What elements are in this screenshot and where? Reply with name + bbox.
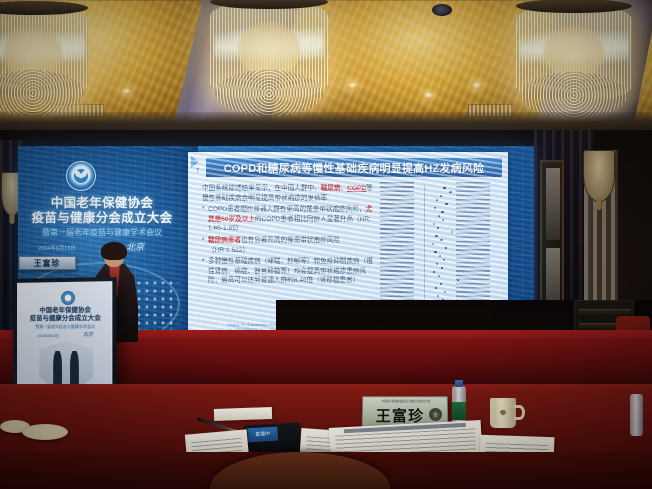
coffee-mug: 会标 bbox=[490, 398, 516, 428]
slide-title-bar: COPD和糖尿病等慢性基础疾病明显提高HZ发病风险 bbox=[206, 158, 502, 177]
podium-nameplate-text: 王富珍 bbox=[34, 257, 61, 268]
banner-date: 2024年6月15日 bbox=[38, 244, 76, 252]
lectern-panel-subtitle: 暨第一届老年疫苗与健康学术会议 bbox=[22, 324, 109, 330]
mug-logo: 会标 bbox=[496, 407, 510, 418]
slide-bullet-2-highlight: 糖尿病患者 bbox=[208, 237, 241, 244]
slide-intro-paragraph: 中国系统综述结果显示，在中国人群中，糖尿病、COPD等慢性基础疾病会明显提高带状… bbox=[202, 184, 374, 203]
table-nameplate-seal: 会 bbox=[429, 408, 442, 421]
downlight-1 bbox=[122, 88, 131, 94]
mug-handle bbox=[514, 405, 525, 420]
downlight-2 bbox=[348, 82, 357, 88]
forest-plot-point bbox=[438, 215, 440, 217]
slide-bullet-1-pre: COPD患者相比普通人群有更高的罹患带状疱疹风险， bbox=[208, 206, 366, 213]
forest-plot-study-labels bbox=[380, 182, 414, 314]
forest-plot-chart bbox=[380, 182, 490, 314]
forest-plot-point bbox=[434, 251, 436, 253]
slide-body-text: 中国系统综述结果显示，在中国人群中，糖尿病、COPD等慢性基础疾病会明显提高带状… bbox=[202, 184, 374, 288]
forest-plot-point bbox=[436, 199, 438, 201]
forest-plot-point bbox=[437, 295, 439, 297]
banner-title-line1: 中国老年保健协会 bbox=[24, 196, 180, 211]
slide-title: COPD和糖尿病等慢性基础疾病明显提高HZ发病风险 bbox=[224, 160, 484, 176]
forest-plot-point bbox=[433, 223, 435, 225]
forest-plot-value-labels bbox=[456, 182, 490, 314]
forest-plot-point bbox=[443, 187, 445, 189]
chandelier-right bbox=[516, 4, 632, 102]
water-bottle-right bbox=[630, 394, 643, 436]
banner-title-line2: 疫苗与健康分会成立大会 bbox=[24, 211, 180, 226]
downlight-3 bbox=[472, 82, 481, 88]
saucer-left bbox=[22, 424, 68, 440]
forest-plot-point bbox=[441, 267, 443, 269]
lectern-panel-title: 中国老年保健协会 疫苗与健康分会成立大会 bbox=[22, 307, 109, 324]
ceiling-speaker-right bbox=[432, 4, 452, 16]
forest-plot-point bbox=[435, 235, 437, 237]
slide-intro-highlight-2: COPD bbox=[347, 185, 366, 192]
forest-plot-point bbox=[449, 191, 451, 193]
forest-plot-reference-line bbox=[424, 185, 425, 313]
banner-title: 中国老年保健协会 疫苗与健康分会成立大会 bbox=[24, 196, 180, 226]
slide-bullet-1: COPD患者相比普通人群有更高的罹患带状疱疹风险，尤其是50岁及以上的COPD患… bbox=[202, 205, 374, 234]
slide-bullet-2: 糖尿病患者也有显著升高的罹患带状疱疹风险（HR:1.522） bbox=[202, 236, 374, 255]
slide-intro-highlight-1: 糖尿病、 bbox=[321, 185, 347, 192]
lectern-panel-date: 2024年6月15日 bbox=[37, 333, 59, 338]
forest-plot-point bbox=[435, 287, 437, 289]
forest-plot-point bbox=[445, 247, 447, 249]
lectern-panel-title-line2: 疫苗与健康分会成立大会 bbox=[22, 315, 109, 324]
slide-bullet-3-pre: 多种慢性基础疾病（哮喘、抑郁等）和免疫抑制疾病（慢性肾病、癌症、器官移植等）均会… bbox=[208, 258, 373, 284]
bottle-cap bbox=[455, 380, 463, 387]
podium-nameplate: 王富珍 bbox=[19, 256, 76, 270]
table-nameplate-header: 中国老年保健协会疫苗与健康分会成立大会 bbox=[367, 399, 445, 404]
forest-plot-point bbox=[440, 239, 442, 241]
lectern-panel-city: 北京 bbox=[83, 331, 93, 338]
curtain-valance bbox=[583, 150, 615, 202]
slide-bullet-3: 多种慢性基础疾病（哮喘、抑郁等）和免疫抑制疾病（慢性肾病、癌症、器官移植等）均会… bbox=[202, 257, 374, 286]
forest-plot-point bbox=[442, 219, 444, 221]
forest-plot-point bbox=[445, 203, 447, 205]
slide-intro-prefix: 中国系统综述结果显示，在中国人群中， bbox=[202, 185, 321, 192]
bottle-label bbox=[452, 402, 466, 420]
slide-number: 7 bbox=[192, 167, 203, 177]
forest-plot-point bbox=[439, 255, 441, 257]
table-paper-small bbox=[214, 407, 272, 421]
forest-plot-point bbox=[436, 263, 438, 265]
forest-plot-point bbox=[441, 211, 443, 213]
forest-plot-point bbox=[440, 283, 442, 285]
banner-subtitle: 暨第一届老年疫苗与健康学术会议 bbox=[24, 228, 180, 238]
association-logo-icon-podium bbox=[61, 291, 75, 305]
conference-hall-photo: 中国老年保健协会 疫苗与健康分会成立大会 暨第一届老年疫苗与健康学术会议 202… bbox=[0, 0, 652, 489]
forest-plot-point bbox=[443, 259, 445, 261]
forest-plot-point bbox=[444, 291, 446, 293]
forest-plot-point bbox=[434, 207, 436, 209]
forest-plot-point bbox=[432, 243, 434, 245]
chandelier-center bbox=[210, 0, 328, 100]
downlight-4 bbox=[424, 92, 433, 98]
forest-plot-point bbox=[451, 231, 453, 233]
forest-plot-point bbox=[438, 275, 440, 277]
chandelier-left bbox=[0, 6, 88, 100]
association-logo-icon bbox=[66, 161, 96, 191]
forest-plot-point bbox=[433, 271, 435, 273]
forest-plot-point bbox=[440, 195, 442, 197]
tablet-screen-label: 直播中 bbox=[247, 427, 278, 443]
ceiling bbox=[0, 0, 652, 142]
forest-plot-point bbox=[437, 227, 439, 229]
